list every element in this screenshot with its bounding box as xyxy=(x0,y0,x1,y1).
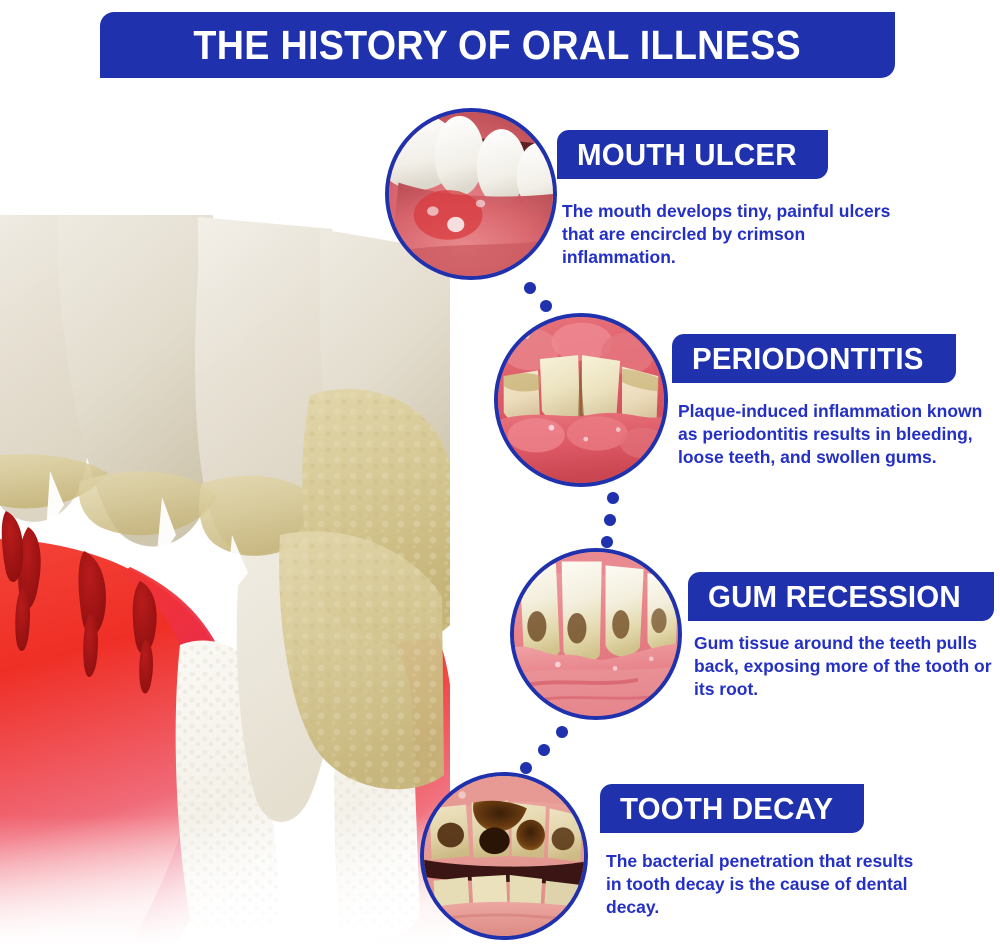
photo-periodontitis xyxy=(494,313,668,487)
section-label-mouth-ulcer: MOUTH ULCER xyxy=(577,137,797,173)
page-title: THE HISTORY OF ORAL ILLNESS xyxy=(194,22,802,69)
section-description-mouth-ulcer: The mouth develops tiny, painful ulcers … xyxy=(562,200,892,269)
section-description-tooth-decay: The bacterial penetration that results i… xyxy=(606,850,926,919)
label-pill-mouth-ulcer: MOUTH ULCER xyxy=(557,130,828,179)
section-label-tooth-decay: TOOTH DECAY xyxy=(620,791,833,827)
photo-tooth-decay xyxy=(420,772,588,940)
label-pill-gum-recession: GUM RECESSION xyxy=(688,572,994,621)
dental-cross-section-illustration xyxy=(0,215,450,945)
label-pill-periodontitis: PERIODONTITIS xyxy=(672,334,956,383)
connector-dot xyxy=(524,282,536,294)
connector-dot xyxy=(538,744,550,756)
connector-dot xyxy=(601,536,613,548)
connector-dot xyxy=(520,762,532,774)
photo-mouth-ulcer xyxy=(385,108,557,280)
section-label-periodontitis: PERIODONTITIS xyxy=(692,341,924,377)
section-description-periodontitis: Plaque-induced inflammation known as per… xyxy=(678,400,998,469)
connector-dot xyxy=(540,300,552,312)
connector-dot xyxy=(607,492,619,504)
connector-dot xyxy=(604,514,616,526)
page-title-banner: THE HISTORY OF ORAL ILLNESS xyxy=(100,12,895,78)
section-description-gum-recession: Gum tissue around the teeth pulls back, … xyxy=(694,632,1000,701)
photo-gum-recession xyxy=(510,548,682,720)
section-label-gum-recession: GUM RECESSION xyxy=(708,579,961,615)
infographic-canvas: THE HISTORY OF ORAL ILLNESS xyxy=(0,0,1000,938)
connector-dot xyxy=(556,726,568,738)
label-pill-tooth-decay: TOOTH DECAY xyxy=(600,784,864,833)
